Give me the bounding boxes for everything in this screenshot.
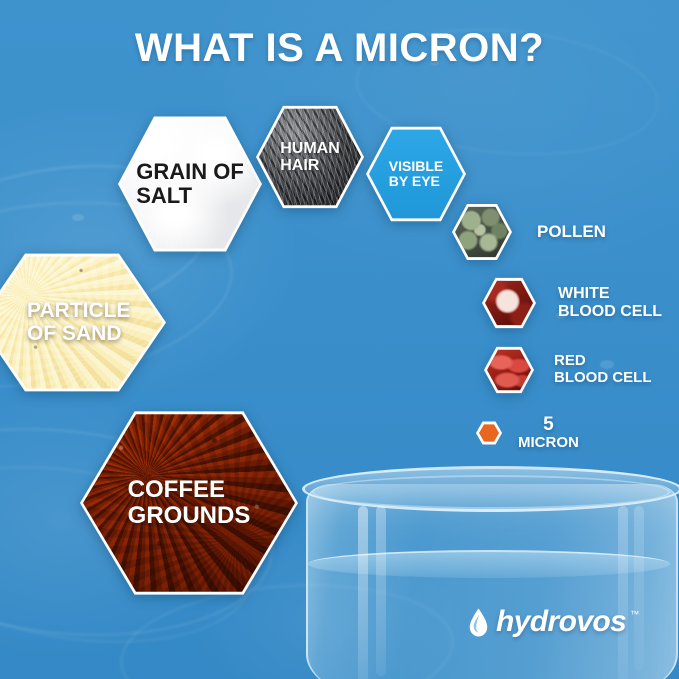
brand-logo[interactable]: hydrovos ™ — [468, 605, 639, 639]
micron-hexagon-icon — [476, 421, 502, 445]
glass-of-water-image — [300, 462, 679, 679]
item-white-blood-cell[interactable]: WHITE BLOOD CELL — [482, 277, 662, 329]
micron-value: 5 — [518, 414, 579, 435]
glass-highlight — [358, 506, 368, 679]
hexagon-visible-by-eye[interactable]: VISIBLE BY EYE — [366, 125, 466, 223]
hexagon-grain-of-salt[interactable]: GRAIN OF SALT — [118, 114, 262, 254]
hexagon-pollen[interactable] — [452, 203, 512, 261]
glass-highlight — [634, 506, 644, 671]
hexagon-white-blood-cell[interactable] — [482, 277, 536, 329]
item-five-micron[interactable]: 5 MICRON — [476, 414, 579, 452]
glass-body — [306, 484, 678, 679]
item-pollen[interactable]: POLLEN — [452, 203, 606, 261]
glass-rim-inner — [312, 475, 670, 509]
infographic-canvas: WHAT IS A MICRON? GRAIN OF SALT HUMAN HA… — [0, 0, 679, 679]
hex-label-line1: HUMAN — [280, 140, 340, 157]
hexagon-fill: COFFEE GROUNDS — [83, 411, 295, 595]
glass-highlight — [618, 506, 628, 679]
hexagon-fill: GRAIN OF SALT — [121, 117, 259, 251]
hex-label-line1: PARTICLE — [27, 300, 130, 323]
hex-label-line2: GROUNDS — [128, 503, 251, 529]
item-red-blood-cell[interactable]: RED BLOOD CELL — [484, 346, 652, 394]
trademark-symbol: ™ — [630, 609, 639, 619]
micron-hexagon-fill — [479, 424, 499, 442]
glass-rim — [302, 466, 679, 512]
hex-label-line2: HAIR — [280, 157, 340, 174]
hexagon-fill: PARTICLE OF SAND — [0, 254, 163, 391]
hex-label-line2: OF SAND — [27, 323, 130, 346]
hexagon-human-hair[interactable]: HUMAN HAIR — [256, 104, 364, 210]
item-label-line2: BLOOD CELL — [558, 303, 662, 321]
water-drop-icon — [468, 608, 489, 637]
item-label-line2: BLOOD CELL — [554, 370, 652, 387]
hex-label-line1: VISIBLE — [389, 159, 443, 174]
item-label-line1: WHITE — [558, 285, 662, 303]
brand-name: hydrovos — [496, 605, 626, 639]
glass-highlight — [376, 506, 386, 676]
hex-label-line1: GRAIN OF — [136, 160, 244, 184]
hexagon-coffee-grounds[interactable]: COFFEE GROUNDS — [80, 408, 298, 598]
hex-label-line2: SALT — [136, 184, 244, 208]
hexagon-red-blood-cell[interactable] — [484, 346, 534, 394]
hexagon-fill: HUMAN HAIR — [259, 107, 361, 207]
bubble-decor — [72, 214, 84, 221]
micron-unit: MICRON — [518, 435, 579, 452]
hex-label-line2: BY EYE — [389, 174, 443, 189]
water-surface — [308, 550, 670, 578]
item-label-line1: POLLEN — [537, 222, 606, 241]
hexagon-particle-of-sand[interactable]: PARTICLE OF SAND — [0, 251, 166, 394]
hex-label-line1: COFFEE — [128, 477, 251, 503]
page-title: WHAT IS A MICRON? — [0, 26, 679, 71]
item-label-line1: RED — [554, 353, 652, 370]
